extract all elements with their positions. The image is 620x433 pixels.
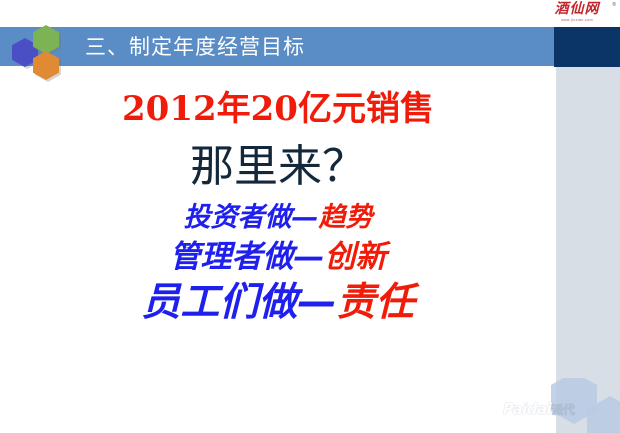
slogan-value-2: 创新 [325, 239, 387, 275]
section-title: 三、制定年度经营目标 [85, 28, 305, 66]
paidai-watermark: Paidai派代 [495, 378, 620, 433]
slogan-role-1: 投资者做 [184, 202, 292, 233]
slogan-dash-2: — [294, 239, 325, 275]
watermark-latin: Paidai [503, 400, 551, 418]
slogan-line-3: 员工们做—责任 [0, 278, 556, 328]
question-line: 那里来？ [0, 140, 556, 194]
slogan-dash-3: — [298, 280, 337, 325]
slide-canvas: 三、制定年度经营目标 ® 酒仙网 www.jiuxian.com 2012年20… [0, 0, 620, 433]
right-navy-block [554, 27, 620, 67]
brand-name: 酒仙网 [540, 2, 614, 17]
slogan-line-1: 投资者做—趋势 [0, 200, 556, 236]
slide-body: 2012年20亿元销售 那里来？ 投资者做—趋势 管理者做—创新 员工们做—责任 [0, 86, 556, 328]
trademark-symbol: ® [612, 2, 616, 8]
brand-logo: ® 酒仙网 www.jiuxian.com [540, 2, 614, 26]
slogan-value-3: 责任 [337, 280, 415, 325]
brand-url: www.jiuxian.com [540, 17, 614, 23]
slogan-role-2: 管理者做 [170, 239, 294, 275]
slogan-line-2: 管理者做—创新 [0, 236, 556, 278]
hexagon-logo-cluster [8, 20, 68, 80]
slogan-role-3: 员工们做 [141, 280, 297, 325]
watermark-text: Paidai派代 [503, 400, 574, 418]
slogan-dash-1: — [292, 202, 319, 233]
headline: 2012年20亿元销售 [0, 86, 556, 132]
watermark-cn: 派代 [551, 403, 574, 417]
slogan-value-1: 趋势 [319, 202, 373, 233]
